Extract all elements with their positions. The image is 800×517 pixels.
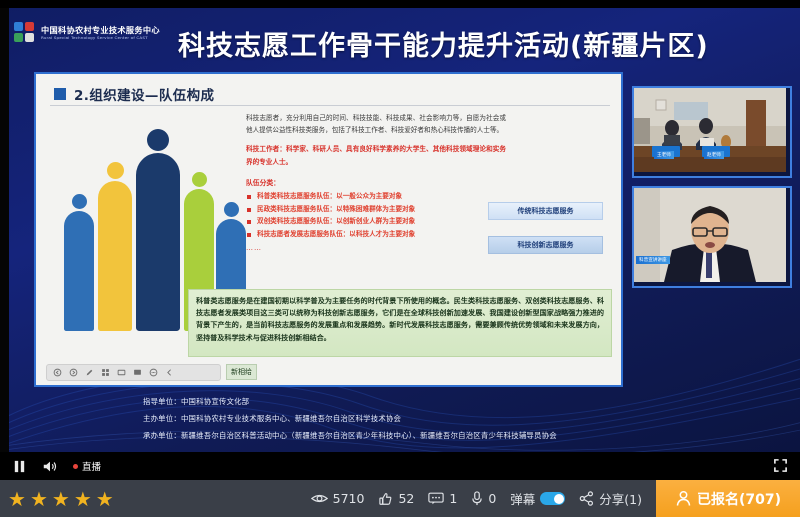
thumbs-up-icon[interactable] bbox=[378, 492, 393, 506]
volume-icon[interactable] bbox=[42, 459, 58, 474]
user-icon bbox=[675, 490, 692, 507]
live-stream-page: 中国科协农村专业技术服务中心 Rural Special Technology … bbox=[0, 0, 800, 517]
organizer-line: 承办单位：新疆维吾尔自治区科普活动中心（新疆维吾尔自治区青少年科技中心）、新疆维… bbox=[143, 430, 557, 441]
heading-divider bbox=[50, 105, 610, 106]
star-icon[interactable]: ★ bbox=[30, 489, 48, 509]
player-control-bar[interactable]: 直播 bbox=[0, 452, 800, 480]
star-icon[interactable]: ★ bbox=[52, 489, 70, 509]
stage-left-letterbox bbox=[0, 0, 9, 452]
live-status-badge: 直播 bbox=[73, 459, 101, 473]
list-item: 科技志愿者发展志愿服务队伍：以科技人才为主要对象 bbox=[246, 228, 506, 241]
slide-heading: 2.组织建设—队伍构成 bbox=[54, 84, 214, 104]
collapse-icon[interactable] bbox=[165, 368, 174, 377]
view-count: 5710 bbox=[311, 491, 365, 506]
zoom-icon[interactable] bbox=[117, 368, 126, 377]
camera-room-image bbox=[634, 88, 786, 172]
view-count-value: 5710 bbox=[333, 491, 365, 506]
nameplate-left: 王老师 bbox=[654, 151, 674, 159]
list-item: 科普类科技志愿服务队伍：以一般公众为主要对象 bbox=[246, 190, 506, 203]
share-icon[interactable] bbox=[579, 491, 594, 506]
next-slide-icon[interactable] bbox=[69, 368, 78, 377]
microphone-count[interactable]: 0 bbox=[471, 491, 496, 506]
camera-speaker-image bbox=[634, 188, 786, 282]
share-button[interactable]: 分享(1) bbox=[579, 489, 642, 508]
comment-icon[interactable] bbox=[428, 492, 444, 505]
tag-traditional-service: 传统科技志愿服务 bbox=[488, 202, 603, 220]
like-count[interactable]: 52 bbox=[378, 491, 414, 506]
list-item: 双创类科技志愿服务队伍：以创新创业人群为主要对象 bbox=[246, 215, 506, 228]
list-continuation: …… bbox=[246, 244, 506, 252]
slide-paragraph-1: 科技志愿者，充分利用自己的时间、科技技能、科技成果、社会影响力等，自愿为社会或他… bbox=[246, 112, 506, 136]
logo-title-en: Rural Special Technology Service Center … bbox=[41, 36, 160, 40]
danmaku-toggle[interactable]: 弹幕 bbox=[510, 489, 565, 508]
pause-icon[interactable] bbox=[12, 459, 27, 474]
previous-slide-icon[interactable] bbox=[53, 368, 62, 377]
signup-label: 已报名(707) bbox=[697, 489, 781, 509]
bullet-square-icon bbox=[54, 88, 66, 100]
star-icon[interactable]: ★ bbox=[8, 489, 26, 509]
list-item: 民政类科技志愿服务队伍：以特殊困难群体为主要对象 bbox=[246, 203, 506, 216]
ppt-presenter-toolbar[interactable] bbox=[46, 364, 221, 381]
tag-innovation-service: 科技创新志愿服务 bbox=[488, 236, 603, 254]
organization-logo: 中国科协农村专业技术服务中心 Rural Special Technology … bbox=[14, 22, 160, 44]
comment-count[interactable]: 1 bbox=[428, 491, 457, 506]
presentation-slide[interactable]: 2.组织建设—队伍构成 bbox=[34, 72, 623, 387]
category-bullet-list: 科普类科技志愿服务队伍：以一般公众为主要对象 民政类科技志愿服务队伍：以特殊困难… bbox=[246, 190, 506, 241]
page-title: 科技志愿工作骨干能力提升活动(新疆片区) bbox=[178, 24, 709, 63]
rating-stars[interactable]: ★ ★ ★ ★ ★ bbox=[0, 489, 114, 509]
microphone-count-value: 0 bbox=[488, 491, 496, 506]
summary-callout-box: 科普类志愿服务是在建国初期以科学普及为主要任务的时代背景下所使用的概念。民生类科… bbox=[188, 289, 612, 357]
danmaku-switch[interactable] bbox=[540, 492, 565, 505]
organizer-line: 指导单位：中国科协宣传文化部 bbox=[143, 396, 557, 407]
live-dot-icon bbox=[73, 464, 78, 469]
signup-button[interactable]: 已报名(707) bbox=[656, 480, 800, 517]
organizer-line: 主办单位：中国科协农村专业技术服务中心、新疆维吾尔自治区科学技术协会 bbox=[143, 413, 557, 424]
stage-top-letterbox bbox=[0, 0, 800, 8]
fullscreen-icon[interactable] bbox=[773, 458, 788, 473]
slide-paragraph-2: 科技工作者：科学家、科研人员、具有良好科学素养的大学生、其他科技领域理论和实务界… bbox=[246, 143, 506, 167]
star-icon[interactable]: ★ bbox=[96, 489, 114, 509]
organizer-credits: 指导单位：中国科协宣传文化部 主办单位：中国科协农村专业技术服务中心、新疆维吾尔… bbox=[143, 396, 557, 441]
pen-icon[interactable] bbox=[85, 368, 94, 377]
nameplate-speaker: 科普宣讲讲座 bbox=[636, 256, 670, 264]
category-label: 队伍分类： bbox=[246, 177, 506, 187]
slide-heading-text: 2.组织建设—队伍构成 bbox=[74, 84, 214, 104]
logo-mark-icon bbox=[14, 22, 36, 44]
share-label: 分享(1) bbox=[599, 489, 642, 508]
danmaku-label: 弹幕 bbox=[510, 489, 535, 508]
summary-text: 科普类志愿服务是在建国初期以科学普及为主要任务的时代背景下所使用的概念。民生类科… bbox=[196, 295, 604, 344]
more-options-icon[interactable] bbox=[149, 368, 158, 377]
like-count-value: 52 bbox=[398, 491, 414, 506]
video-stage[interactable]: 中国科协农村专业技术服务中心 Rural Special Technology … bbox=[0, 0, 800, 452]
notes-icon[interactable] bbox=[133, 368, 142, 377]
ppt-tooltip: 新相给 bbox=[226, 364, 257, 380]
microphone-icon[interactable] bbox=[471, 491, 483, 506]
live-label: 直播 bbox=[82, 459, 101, 473]
eye-icon bbox=[311, 492, 328, 505]
engagement-bar[interactable]: ★ ★ ★ ★ ★ 5710 52 bbox=[0, 480, 800, 517]
logo-title-cn: 中国科协农村专业技术服务中心 bbox=[41, 26, 160, 34]
slide-text-column: 科技志愿者，充分利用自己的时间、科技技能、科技成果、社会影响力等，自愿为社会或他… bbox=[246, 112, 506, 252]
slide-show-all-icon[interactable] bbox=[101, 368, 110, 377]
camera-tile-room[interactable]: 王老师 赵老师 bbox=[632, 86, 792, 178]
star-icon[interactable]: ★ bbox=[74, 489, 92, 509]
camera-tile-speaker[interactable]: 科普宣讲讲座 bbox=[632, 186, 792, 288]
comment-count-value: 1 bbox=[449, 491, 457, 506]
nameplate-right: 赵老师 bbox=[704, 151, 724, 159]
